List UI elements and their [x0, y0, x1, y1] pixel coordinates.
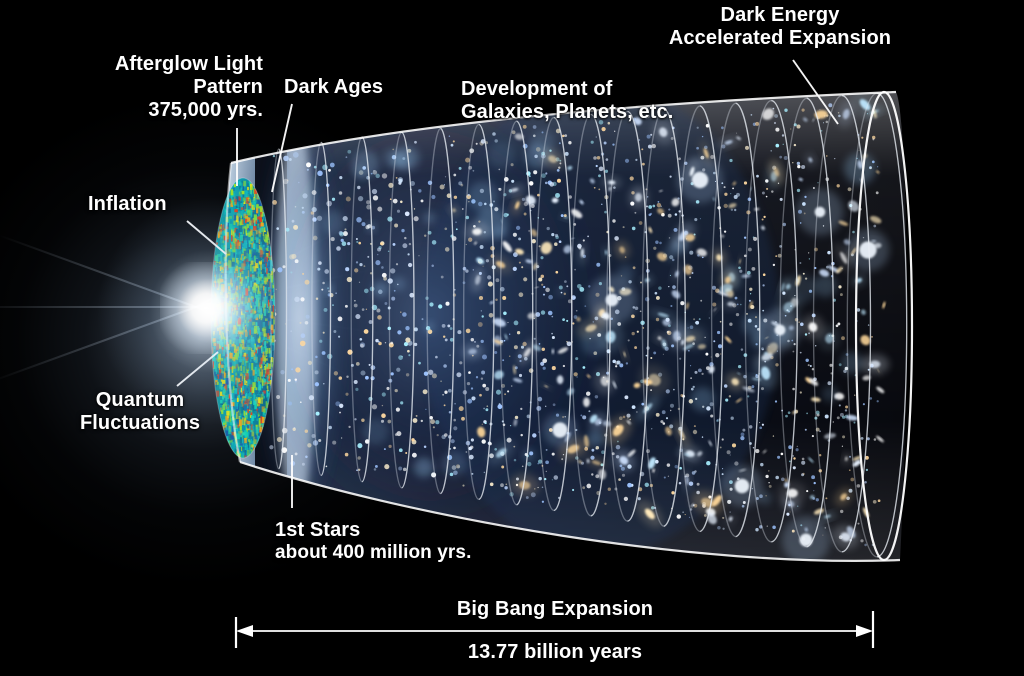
label-first-stars-subtitle: about 400 million yrs. [275, 542, 471, 564]
universe-timeline-diagram: Afterglow Light Pattern 375,000 yrs. Dar… [0, 0, 1024, 676]
label-age-of-universe: 13.77 billion years [355, 641, 755, 664]
label-quantum-fluctuations: Quantum Fluctuations [40, 389, 240, 435]
label-dark-energy: Dark Energy Accelerated Expansion [630, 4, 930, 50]
leader-quantum [177, 352, 218, 386]
label-dark-ages: Dark Ages [284, 76, 383, 99]
label-development-of-galaxies: Development of Galaxies, Planets, etc. [461, 78, 673, 124]
label-inflation: Inflation [88, 193, 167, 216]
label-afterglow-light-pattern: Afterglow Light Pattern 375,000 yrs. [63, 53, 263, 121]
label-big-bang-expansion: Big Bang Expansion [355, 598, 755, 621]
label-first-stars-title: 1st Stars [275, 519, 360, 541]
label-first-stars: 1st Starsabout 400 million yrs. [275, 519, 471, 563]
